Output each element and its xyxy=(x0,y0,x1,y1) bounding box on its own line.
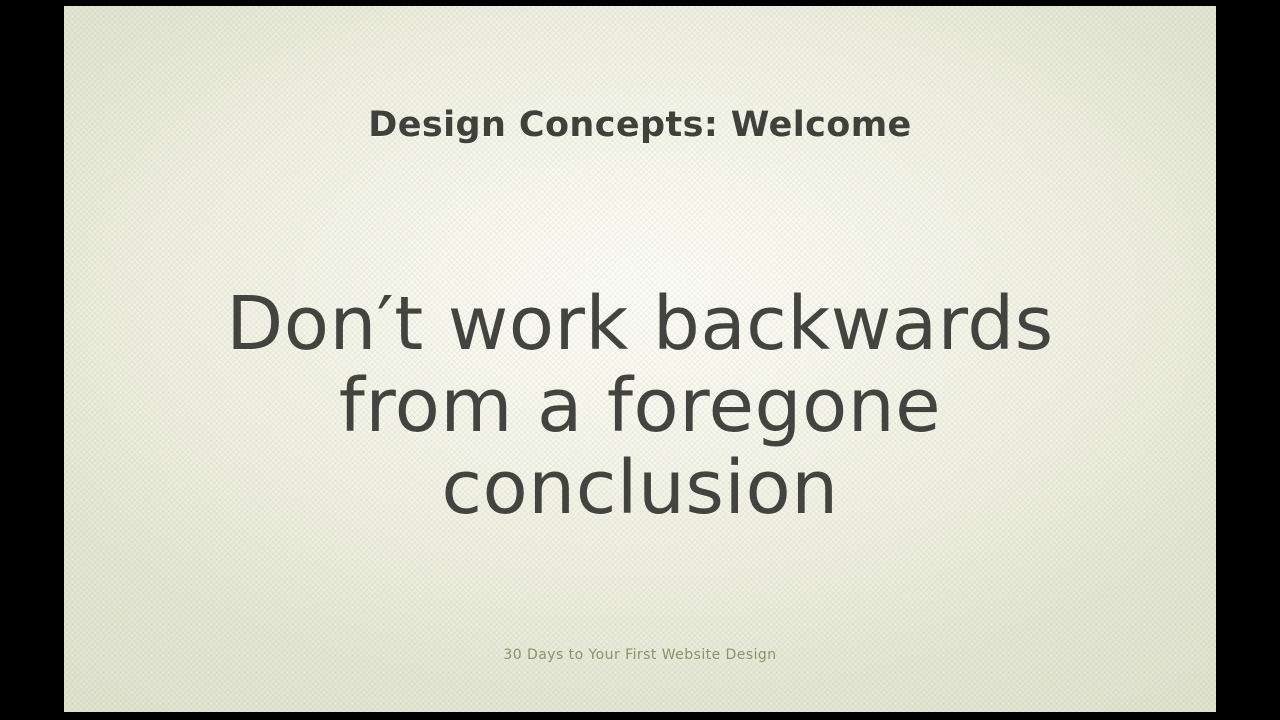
slide-footer-credit: 30 Days to Your First Website Design xyxy=(64,647,1216,663)
headline-line-2: from a foregone xyxy=(104,365,1176,447)
letterbox-bar-left xyxy=(0,0,64,720)
letterbox-bar-bottom xyxy=(64,712,1216,720)
letterbox-bar-top xyxy=(64,0,1216,6)
slide-title: Design Concepts: Welcome xyxy=(64,105,1216,145)
letterbox-bar-right xyxy=(1216,0,1280,720)
headline-line-3: conclusion xyxy=(104,447,1176,529)
headline-line-1: Don′t work backwards xyxy=(104,283,1176,365)
slide-canvas: Design Concepts: Welcome Don′t work back… xyxy=(64,6,1216,712)
presentation-viewport: Design Concepts: Welcome Don′t work back… xyxy=(0,0,1280,720)
slide-content: Design Concepts: Welcome Don′t work back… xyxy=(64,6,1216,712)
slide-headline: Don′t work backwards from a foregone con… xyxy=(104,283,1176,529)
